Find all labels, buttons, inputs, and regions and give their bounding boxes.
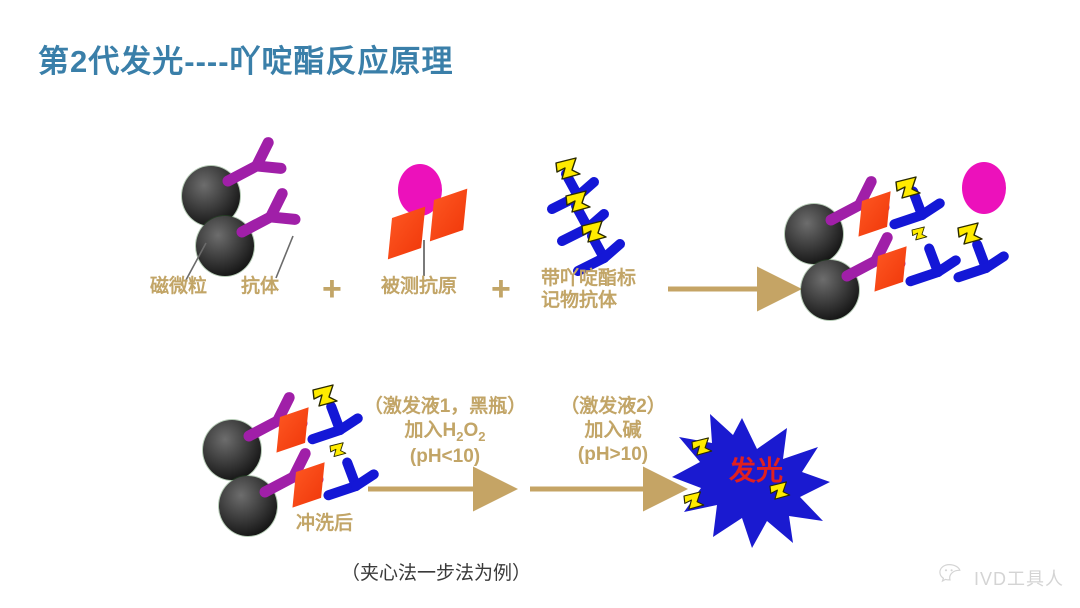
watermark-text: IVD工具人 [974, 565, 1064, 591]
condition-trigger-1: （激发液1，黑瓶） 加入H2O2 (pH<10) [345, 395, 545, 469]
footnote-method: （夹心法一步法为例） [341, 558, 531, 585]
group-immune-complex-top [784, 162, 1006, 321]
slide-canvas: 第2代发光----吖啶酯反应原理 [0, 0, 1080, 608]
wechat-icon [939, 563, 967, 592]
page-title: 第2代发光----吖啶酯反应原理 [38, 36, 454, 81]
watermark: IVD工具人 [939, 563, 1064, 592]
label-labeled-antibody-line1: 带吖啶酯标 [541, 268, 636, 290]
label-labeled-antibody: 带吖啶酯标 记物抗体 [541, 268, 636, 313]
trigger-1-line3: (pH<10) [345, 445, 545, 469]
label-magnetic-particle: 磁微粒 [150, 276, 207, 298]
trigger-2-line1: （激发液2） [533, 395, 693, 419]
group-magnetic-particles [181, 142, 296, 280]
trigger-1-line2: 加入H2O2 [345, 419, 545, 445]
operator-plus-1: + [322, 272, 342, 306]
condition-trigger-2: （激发液2） 加入碱 (pH>10) [533, 395, 693, 466]
trigger-2-line3: (pH>10) [533, 443, 693, 467]
group-labeled-antibodies [552, 158, 620, 271]
label-antibody: 抗体 [241, 276, 279, 298]
diagram-graphics-layer [0, 0, 1080, 608]
group-target-antigen [384, 164, 470, 276]
trigger-2-line2: 加入碱 [533, 419, 693, 443]
label-labeled-antibody-line2: 记物抗体 [541, 290, 636, 312]
burst-label: 发光 [706, 458, 806, 485]
operator-plus-2: + [491, 272, 511, 306]
trigger-1-line1: （激发液1，黑瓶） [345, 395, 545, 419]
label-after-wash: 冲洗后 [296, 513, 353, 535]
label-target-antigen: 被测抗原 [381, 276, 457, 298]
